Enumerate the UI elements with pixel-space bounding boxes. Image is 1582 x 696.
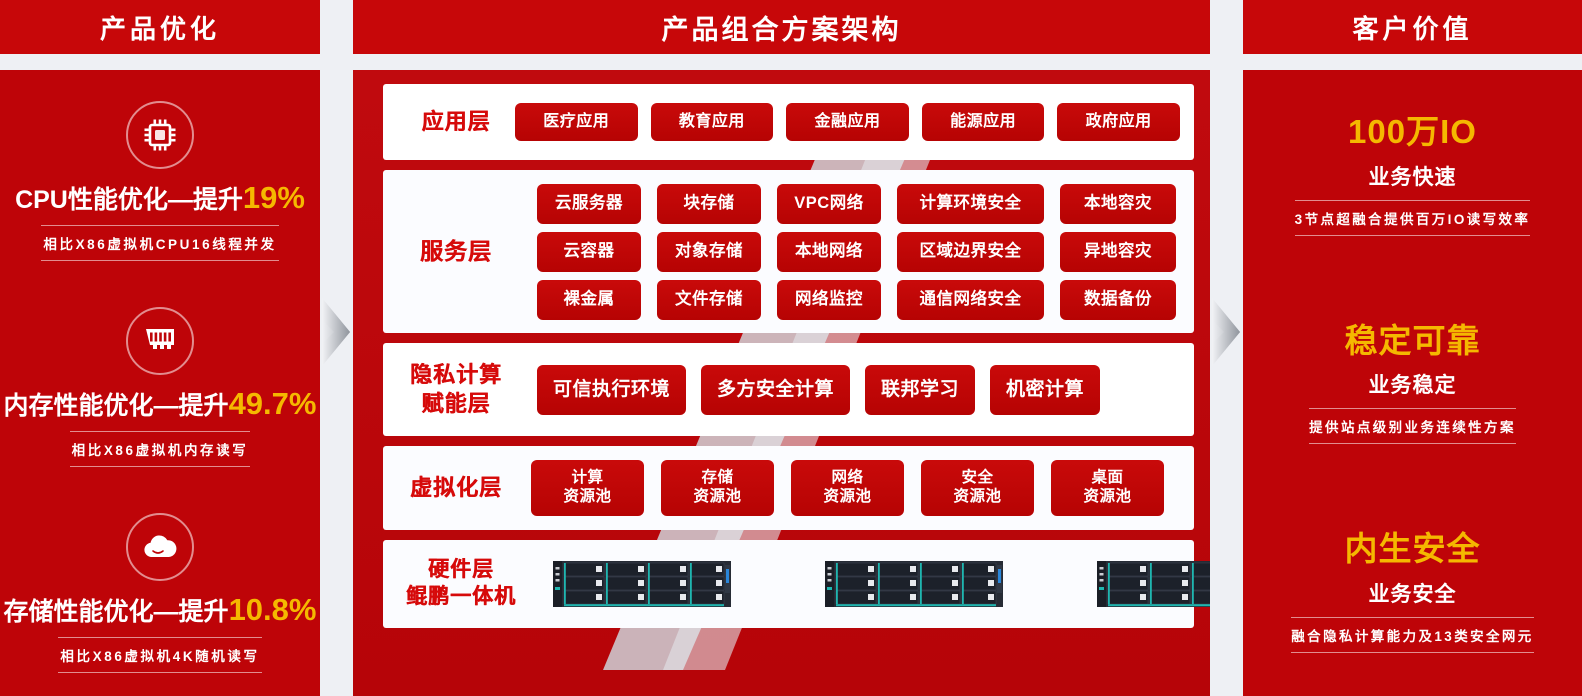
server-rack-icon-2 (825, 561, 1003, 607)
right-panel-header: 客户价值 (1243, 0, 1582, 54)
metric-note: 相比X86虚拟机内存读写 (70, 431, 251, 467)
metric-note: 相比X86虚拟机CPU16线程并发 (41, 225, 278, 261)
infographic-root: 产品优化 (0, 0, 1582, 696)
value-headline: 稳定可靠 (1345, 322, 1481, 360)
chip-virt-security-pool-line2: 资源池 (953, 488, 1001, 507)
value-item-reliability: 稳定可靠 业务稳定 提供站点级别业务连续性方案 (1243, 279, 1582, 488)
value-item-performance: 100万IO 业务快速 3节点超融合提供百万IO读写效率 (1243, 70, 1582, 279)
hardware-group (525, 561, 1210, 607)
service-chip-grid: 云服务器 块存储 VPC网络 计算环境安全 本地容灾 云容器 对象存储 本地网络… (515, 184, 1180, 320)
chip-app-finance[interactable]: 金融应用 (786, 103, 909, 141)
chip-svc-bare-metal[interactable]: 裸金属 (537, 280, 641, 320)
right-connector-gap (1210, 0, 1243, 696)
chip-virt-network-pool-line2: 资源池 (823, 488, 871, 507)
chip-svc-local-dr[interactable]: 本地容灾 (1060, 184, 1176, 224)
left-panel-header: 产品优化 (0, 0, 320, 54)
chip-virt-storage-pool-line2: 资源池 (693, 488, 741, 507)
metric-title: CPU性能优化—提升19% (15, 181, 305, 215)
server-rack-icon-1 (553, 561, 731, 607)
metric-item-cpu: CPU性能优化—提升19% 相比X86虚拟机CPU16线程并发 (0, 78, 320, 284)
layer-label-hardware: 硬件层 鲲鹏一体机 (397, 557, 525, 611)
metric-value: 10.8% (229, 592, 317, 627)
value-subtitle: 业务快速 (1369, 161, 1457, 191)
privacy-chip-group: 可信执行环境 多方安全计算 联邦学习 机密计算 (515, 365, 1180, 415)
chip-priv-confidential-computing[interactable]: 机密计算 (990, 365, 1100, 415)
header-divider-left (0, 54, 320, 70)
layer-label-hardware-line1: 硬件层 (397, 557, 525, 584)
application-chip-group: 医疗应用 教育应用 金融应用 能源应用 政府应用 (515, 103, 1180, 141)
chip-virt-compute-pool-line2: 资源池 (563, 488, 611, 507)
value-subtitle: 业务稳定 (1369, 369, 1457, 399)
layer-label-privacy: 隐私计算 赋能层 (397, 361, 515, 417)
chip-svc-file-storage[interactable]: 文件存储 (657, 280, 761, 320)
chip-priv-mpc[interactable]: 多方安全计算 (701, 365, 850, 415)
value-item-security: 内生安全 业务安全 融合隐私计算能力及13类安全网元 (1243, 487, 1582, 696)
layer-label-service: 服务层 (397, 237, 515, 266)
left-panel-body: CPU性能优化—提升19% 相比X86虚拟机CPU16线程并发 (0, 70, 320, 696)
layer-hardware: 硬件层 鲲鹏一体机 (383, 540, 1194, 628)
chip-virt-storage-pool[interactable]: 存储 资源池 (661, 460, 774, 516)
value-subtitle: 业务安全 (1369, 578, 1457, 608)
metric-title-text: CPU性能优化—提升 (15, 186, 243, 214)
virtualization-chip-group: 计算 资源池 存储 资源池 网络 资源池 (515, 460, 1180, 516)
privacy-row: 可信执行环境 多方安全计算 联邦学习 机密计算 (515, 365, 1100, 415)
chip-virt-compute-pool[interactable]: 计算 资源池 (531, 460, 644, 516)
chip-virt-desktop-pool-line2: 资源池 (1083, 488, 1131, 507)
chip-app-government[interactable]: 政府应用 (1057, 103, 1180, 141)
layer-label-privacy-line1: 隐私计算 (397, 361, 515, 389)
layer-application: 应用层 医疗应用 教育应用 金融应用 能源应用 政府应用 (383, 84, 1194, 160)
right-panel: 客户价值 100万IO 业务快速 3节点超融合提供百万IO读写效率 稳定可靠 业… (1243, 0, 1582, 696)
virtualization-row: 计算 资源池 存储 资源池 网络 资源池 (515, 460, 1164, 516)
chevron-right-icon-left (320, 296, 353, 368)
cloud-storage-icon (126, 513, 194, 581)
metric-title: 存储性能优化—提升10.8% (4, 593, 317, 627)
chip-virt-network-pool-line1: 网络 (831, 469, 863, 488)
metric-list: CPU性能优化—提升19% 相比X86虚拟机CPU16线程并发 (0, 70, 320, 696)
center-panel: 产品组合方案架构 应用层 医疗应用 教育应 (353, 0, 1210, 696)
chip-svc-cloud-container[interactable]: 云容器 (537, 232, 641, 272)
cpu-chip-icon (126, 101, 194, 169)
chip-app-education[interactable]: 教育应用 (651, 103, 774, 141)
memory-module-icon (126, 307, 194, 375)
layer-label-hardware-line2: 鲲鹏一体机 (397, 584, 525, 611)
chip-virt-desktop-pool-line1: 桌面 (1091, 469, 1123, 488)
center-panel-body: 应用层 医疗应用 教育应用 金融应用 能源应用 政府应用 服务层 (353, 70, 1210, 696)
chip-svc-object-storage[interactable]: 对象存储 (657, 232, 761, 272)
left-connector-gap (320, 0, 353, 696)
layer-label-virtualization: 虚拟化层 (397, 474, 515, 502)
layer-service: 服务层 云服务器 块存储 VPC网络 计算环境安全 本地容灾 云容器 对象存储 … (383, 170, 1194, 333)
value-list: 100万IO 业务快速 3节点超融合提供百万IO读写效率 稳定可靠 业务稳定 提… (1243, 70, 1582, 696)
chip-virt-network-pool[interactable]: 网络 资源池 (791, 460, 904, 516)
chip-virt-storage-pool-line1: 存储 (701, 469, 733, 488)
metric-title: 内存性能优化—提升49.7% (4, 387, 317, 421)
architecture-stack: 应用层 医疗应用 教育应用 金融应用 能源应用 政府应用 服务层 (353, 70, 1210, 696)
server-rack-icon-3 (1097, 561, 1210, 607)
application-row: 医疗应用 教育应用 金融应用 能源应用 政府应用 (515, 103, 1180, 141)
chip-virt-security-pool-line1: 安全 (961, 469, 993, 488)
chip-svc-data-backup[interactable]: 数据备份 (1060, 280, 1176, 320)
chip-app-energy[interactable]: 能源应用 (922, 103, 1045, 141)
metric-value: 49.7% (229, 386, 317, 421)
header-divider-center (353, 54, 1210, 70)
chip-svc-compute-env-sec[interactable]: 计算环境安全 (897, 184, 1044, 224)
chip-svc-zone-border-sec[interactable]: 区域边界安全 (897, 232, 1044, 272)
chip-svc-block-storage[interactable]: 块存储 (657, 184, 761, 224)
chip-svc-network-monitor[interactable]: 网络监控 (777, 280, 881, 320)
value-note: 提供站点级别业务连续性方案 (1309, 408, 1516, 444)
chip-priv-federated-learning[interactable]: 联邦学习 (865, 365, 975, 415)
header-divider-right (1243, 54, 1582, 70)
chip-svc-remote-dr[interactable]: 异地容灾 (1060, 232, 1176, 272)
value-headline: 内生安全 (1345, 530, 1481, 568)
metric-title-text: 内存性能优化—提升 (4, 392, 229, 420)
chip-svc-local-network[interactable]: 本地网络 (777, 232, 881, 272)
layer-label-application: 应用层 (397, 108, 515, 136)
chip-svc-cloud-server[interactable]: 云服务器 (537, 184, 641, 224)
value-note: 3节点超融合提供百万IO读写效率 (1295, 200, 1531, 236)
right-panel-body: 100万IO 业务快速 3节点超融合提供百万IO读写效率 稳定可靠 业务稳定 提… (1243, 70, 1582, 696)
metric-item-storage: 存储性能优化—提升10.8% 相比X86虚拟机4K随机读写 (0, 490, 320, 696)
center-panel-header: 产品组合方案架构 (353, 0, 1210, 54)
chevron-right-icon-right (1210, 296, 1243, 368)
metric-item-memory: 内存性能优化—提升49.7% 相比X86虚拟机内存读写 (0, 284, 320, 490)
chip-virt-security-pool[interactable]: 安全 资源池 (921, 460, 1034, 516)
metric-title-text: 存储性能优化—提升 (4, 598, 229, 626)
value-note: 融合隐私计算能力及13类安全网元 (1291, 617, 1533, 653)
layer-label-privacy-line2: 赋能层 (397, 390, 515, 418)
metric-note: 相比X86虚拟机4K随机读写 (58, 637, 261, 673)
chip-virt-desktop-pool[interactable]: 桌面 资源池 (1051, 460, 1164, 516)
hardware-row (525, 561, 1210, 607)
chip-svc-comm-network-sec[interactable]: 通信网络安全 (897, 280, 1044, 320)
left-panel: 产品优化 (0, 0, 320, 696)
chip-app-medical[interactable]: 医疗应用 (515, 103, 638, 141)
layer-privacy-computing: 隐私计算 赋能层 可信执行环境 多方安全计算 联邦学习 机密计算 (383, 343, 1194, 436)
chip-virt-compute-pool-line1: 计算 (571, 469, 603, 488)
chip-svc-vpc-network[interactable]: VPC网络 (777, 184, 881, 224)
chip-priv-tee[interactable]: 可信执行环境 (537, 365, 686, 415)
metric-value: 19% (243, 180, 305, 215)
layer-virtualization: 虚拟化层 计算 资源池 存储 资源池 网络 (383, 446, 1194, 530)
value-headline: 100万IO (1348, 113, 1477, 151)
